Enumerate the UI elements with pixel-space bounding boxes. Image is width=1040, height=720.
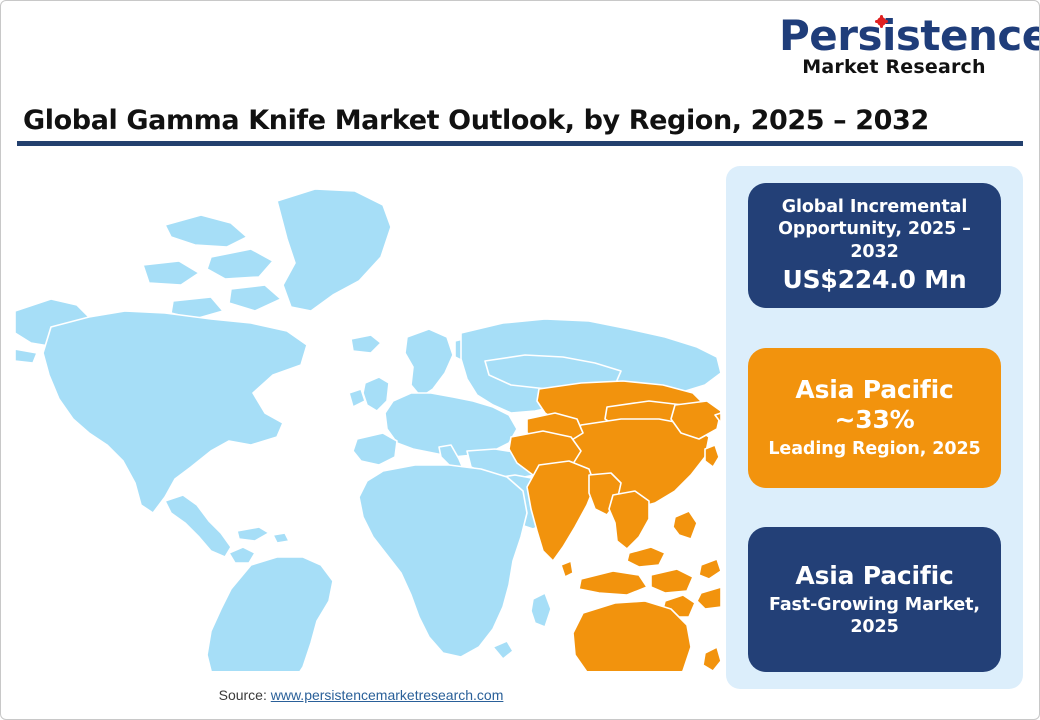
- page-title: Global Gamma Knife Market Outlook, by Re…: [23, 105, 929, 136]
- card-leading-region: Asia Pacific ~33% Leading Region, 2025: [748, 348, 1001, 488]
- card-3-label-line-1: Fast-Growing Market,: [769, 594, 980, 616]
- card-fast-growing-market: Asia Pacific Fast-Growing Market, 2025: [748, 527, 1001, 672]
- card-2-value: Asia Pacific ~33%: [760, 375, 989, 435]
- card-global-incremental-opportunity: Global Incremental Opportunity, 2025 – 2…: [748, 183, 1001, 308]
- card-1-label-line-2: Opportunity, 2025 – 2032: [760, 218, 989, 263]
- source-line: Source: www.persistencemarketresearch.co…: [1, 687, 721, 703]
- source-link[interactable]: www.persistencemarketresearch.com: [271, 687, 504, 703]
- source-label: Source:: [219, 687, 267, 703]
- red-asterisk-icon: [877, 17, 886, 26]
- card-2-label-line-1: Leading Region, 2025: [768, 438, 980, 460]
- logo-brand-text: Persistence: [779, 15, 1040, 57]
- title-divider: [17, 141, 1023, 146]
- logo-tagline-text: Market Research: [779, 58, 1009, 77]
- company-logo: Persistence Market Research: [779, 15, 1009, 77]
- card-1-label-line-1: Global Incremental: [782, 196, 968, 218]
- infographic-slide: Persistence Market Research Global Gamma…: [0, 0, 1040, 720]
- stats-panel: Global Incremental Opportunity, 2025 – 2…: [726, 166, 1023, 689]
- card-3-value: Asia Pacific: [795, 561, 953, 591]
- card-3-label-line-2: 2025: [850, 616, 898, 638]
- world-map: [15, 161, 721, 671]
- card-1-value: US$224.0 Mn: [783, 265, 967, 295]
